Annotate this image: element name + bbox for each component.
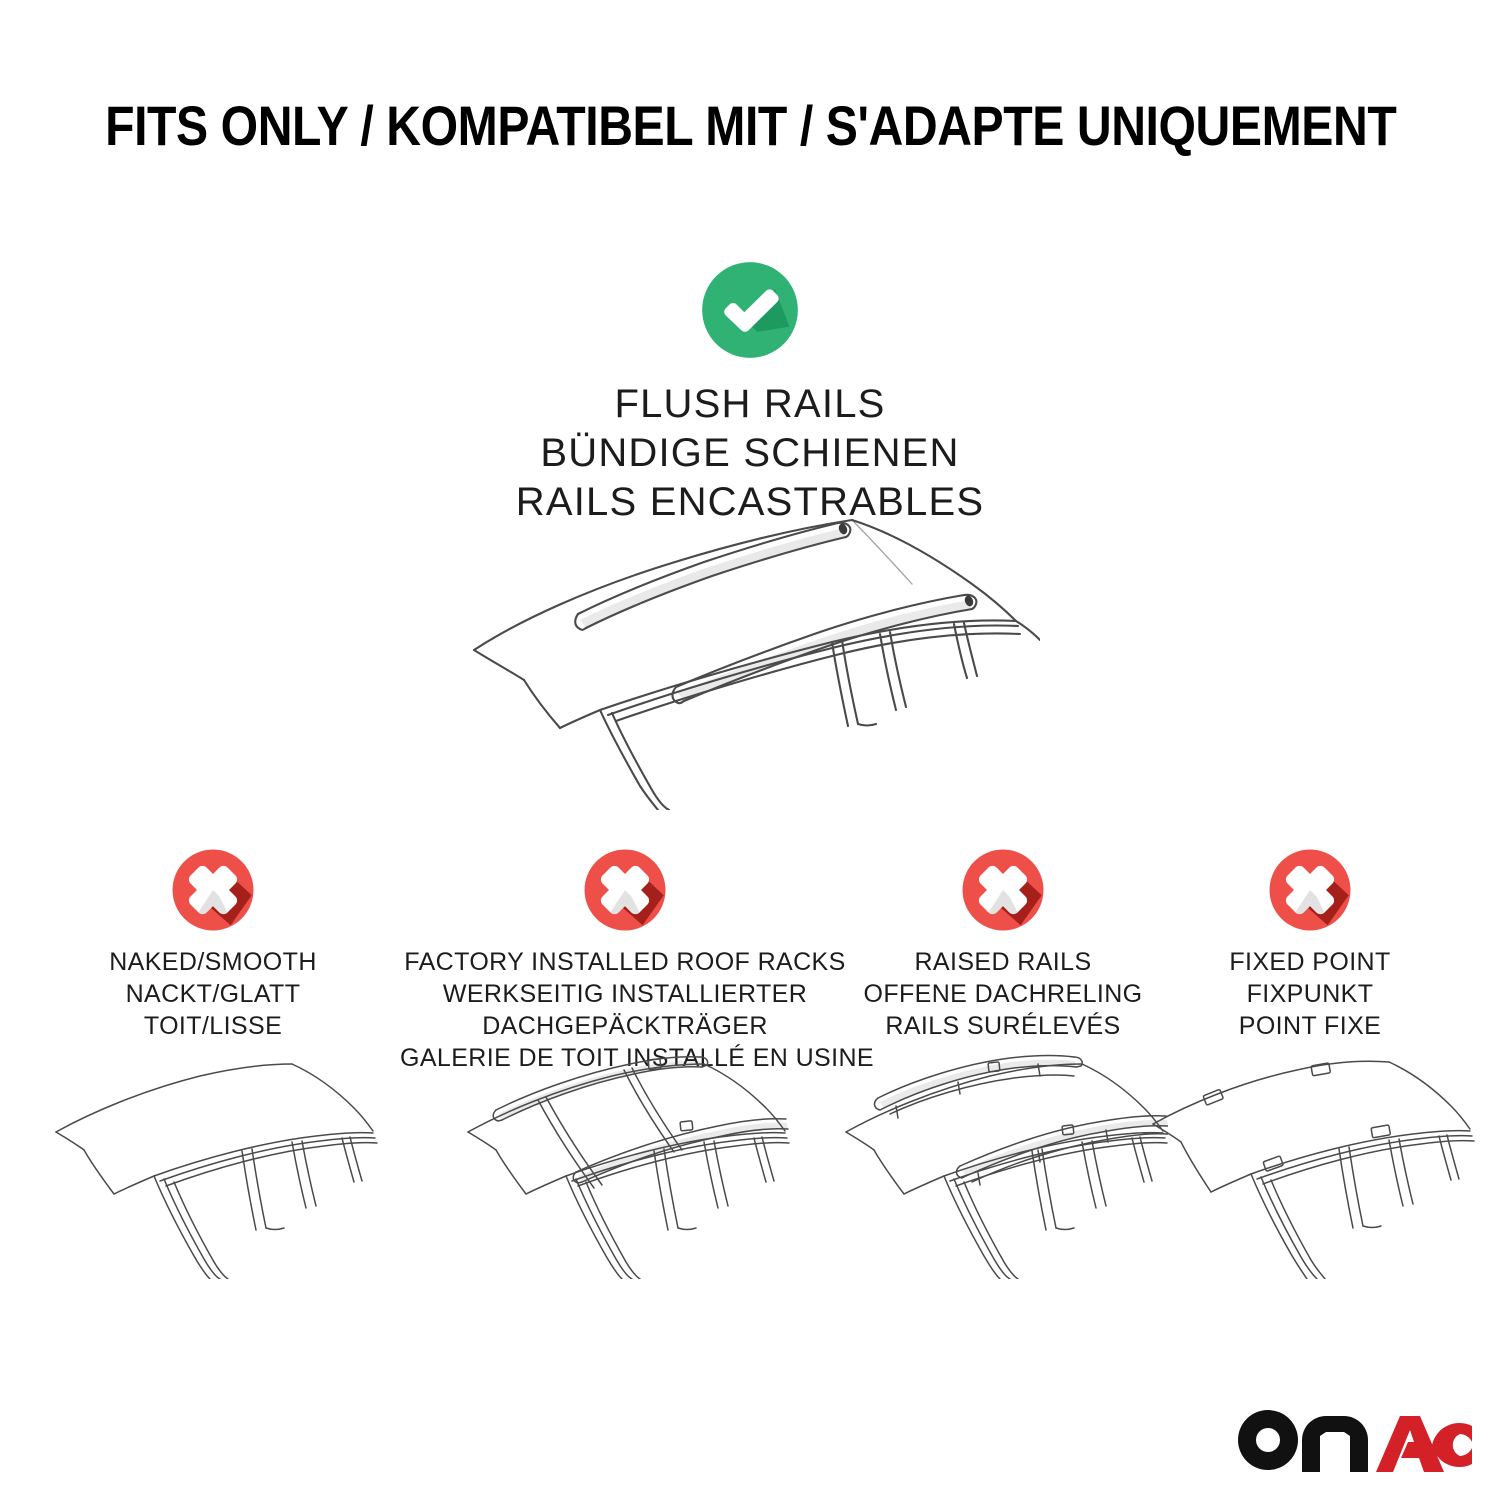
incompatible-item-factory-roof-racks: FACTORY INSTALLED ROOF RACKS WERKSEITIG … xyxy=(400,846,850,1074)
incompatible-label-en: FIXED POINT xyxy=(1175,946,1445,978)
car-roof-raised-rails-illustration xyxy=(838,1054,1168,1279)
cross-circle-icon xyxy=(959,846,1047,934)
incompatible-label-de: OFFENE DACHRELING xyxy=(838,978,1168,1010)
car-roof-fixed-points-illustration xyxy=(1145,1054,1475,1279)
incompatible-section: NAKED/SMOOTH NACKT/GLATT TOIT/LISSE xyxy=(0,846,1500,1286)
car-roof-bare-illustration xyxy=(48,1054,378,1279)
compatible-label-de: BÜNDIGE SCHIENEN xyxy=(0,429,1500,478)
page-title: FITS ONLY / KOMPATIBEL MIT / S'ADAPTE UN… xyxy=(0,98,1500,154)
check-circle-icon xyxy=(698,258,802,362)
incompatible-label-fr: TOIT/LISSE xyxy=(58,1010,368,1042)
incompatible-label-fr: POINT FIXE xyxy=(1175,1010,1445,1042)
brand-logo xyxy=(1236,1408,1474,1480)
compatible-labels: FLUSH RAILS BÜNDIGE SCHIENEN RAILS ENCAS… xyxy=(0,380,1500,526)
incompatible-labels: FIXED POINT FIXPUNKT POINT FIXE xyxy=(1175,946,1445,1042)
incompatible-label-en: NAKED/SMOOTH xyxy=(58,946,368,978)
cross-circle-icon xyxy=(169,846,257,934)
incompatible-item-fixed-point: FIXED POINT FIXPUNKT POINT FIXE xyxy=(1175,846,1445,1042)
incompatible-label-de: NACKT/GLATT xyxy=(58,978,368,1010)
car-roof-with-crossbars-illustration xyxy=(460,1054,790,1279)
cross-circle-icon xyxy=(581,846,669,934)
incompatible-item-raised-rails: RAISED RAILS OFFENE DACHRELING RAILS SUR… xyxy=(838,846,1168,1042)
incompatible-label-de-1: WERKSEITIG INSTALLIERTER xyxy=(400,978,850,1010)
incompatible-labels: RAISED RAILS OFFENE DACHRELING RAILS SUR… xyxy=(838,946,1168,1042)
incompatible-label-de-2: DACHGEPÄCKTRÄGER xyxy=(400,1010,850,1042)
incompatible-label-fr: RAILS SURÉLEVÉS xyxy=(838,1010,1168,1042)
compatible-label-en: FLUSH RAILS xyxy=(0,380,1500,429)
incompatible-label-de: FIXPUNKT xyxy=(1175,978,1445,1010)
page-title-text: FITS ONLY / KOMPATIBEL MIT / S'ADAPTE UN… xyxy=(105,98,1396,154)
cross-circle-icon xyxy=(1266,846,1354,934)
incompatible-label-en: FACTORY INSTALLED ROOF RACKS xyxy=(400,946,850,978)
incompatible-labels: NAKED/SMOOTH NACKT/GLATT TOIT/LISSE xyxy=(58,946,368,1042)
compatible-section: FLUSH RAILS BÜNDIGE SCHIENEN RAILS ENCAS… xyxy=(0,258,1500,526)
incompatible-item-naked-smooth: NAKED/SMOOTH NACKT/GLATT TOIT/LISSE xyxy=(58,846,368,1042)
incompatible-label-en: RAISED RAILS xyxy=(838,946,1168,978)
car-roof-with-flush-rails-illustration xyxy=(460,510,1040,810)
